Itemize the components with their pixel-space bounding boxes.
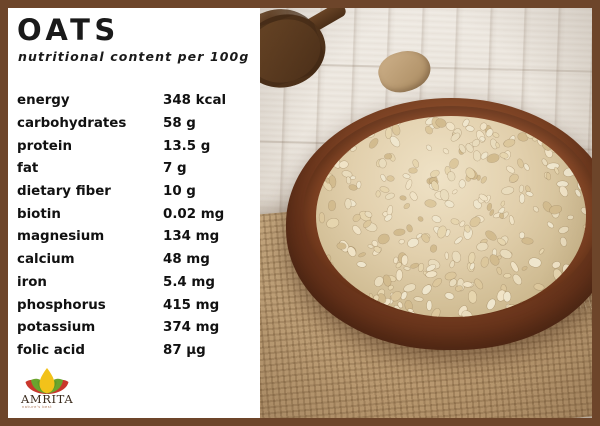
nutrient-label: potassium: [17, 317, 163, 340]
oat-flake: [480, 256, 489, 267]
oat-flake: [500, 201, 505, 207]
table-row: calcium 48 mg: [17, 249, 257, 272]
oat-flake: [508, 215, 514, 225]
nutrition-text-panel: OATS nutritional content per 100g energy…: [8, 8, 260, 418]
oat-flake: [403, 173, 411, 179]
oat-flake: [480, 176, 488, 184]
oat-flake: [387, 175, 394, 181]
brand-logo: AMRITA nature's best: [21, 366, 83, 411]
oat-flake: [417, 215, 424, 222]
oat-flake: [426, 301, 431, 311]
oat-flake: [497, 267, 502, 275]
oat-flake: [402, 255, 408, 265]
nutrient-label: biotin: [17, 203, 163, 226]
nutrient-value: 48 mg: [163, 249, 257, 272]
oat-flake: [571, 116, 577, 124]
oat-flake: [522, 266, 528, 271]
oat-flake: [533, 283, 544, 291]
oat-flake: [356, 262, 366, 268]
oat-flake: [547, 221, 555, 229]
oat-flake: [583, 225, 586, 228]
oat-flake: [580, 206, 586, 216]
oat-flake: [405, 179, 413, 190]
oat-flake: [409, 168, 418, 173]
oat-flake: [577, 267, 585, 279]
oat-flake: [409, 311, 415, 317]
oat-flake: [392, 123, 401, 135]
nutrient-value: 134 mg: [163, 226, 257, 249]
nutrient-label: protein: [17, 135, 163, 158]
oat-flake: [379, 158, 387, 168]
oat-flake: [459, 179, 465, 188]
nutrient-value: 13.5 g: [163, 135, 257, 158]
oat-flake: [393, 257, 398, 263]
nutrition-infographic: OATS nutritional content per 100g energy…: [0, 0, 600, 426]
oat-flake: [408, 191, 418, 202]
page-subtitle: nutritional content per 100g: [18, 49, 249, 64]
oat-flake: [486, 298, 497, 311]
oat-flake: [403, 203, 410, 210]
oat-flake: [380, 308, 392, 317]
oat-flake: [380, 174, 387, 182]
lotus-flower-icon: [24, 366, 70, 395]
oat-flake: [539, 249, 545, 255]
oat-flake: [520, 194, 525, 203]
oat-flake: [316, 279, 328, 288]
oat-flake: [326, 255, 331, 261]
oat-flake: [380, 186, 390, 193]
oat-flake: [519, 185, 524, 193]
oat-flake: [522, 237, 534, 244]
oat-flake: [336, 242, 345, 249]
table-row: folic acid 87 µg: [17, 340, 257, 363]
logo-tagline: nature's best: [22, 406, 52, 410]
oat-flake: [505, 165, 515, 174]
oat-flake: [404, 282, 417, 293]
oat-flake: [412, 159, 419, 168]
oat-flake: [404, 266, 411, 270]
table-row: energy 348 kcal: [17, 90, 257, 113]
table-row: fat 7 g: [17, 158, 257, 181]
oat-flake: [447, 171, 456, 181]
oat-flake: [319, 213, 325, 223]
oat-flake: [563, 166, 576, 176]
nutrient-label: iron: [17, 272, 163, 295]
nutrient-value: 87 µg: [163, 340, 257, 363]
table-row: iron 5.4 mg: [17, 272, 257, 295]
oat-flake: [386, 192, 396, 199]
nutrition-table: energy 348 kcal carbohydrates 58 g prote…: [17, 90, 257, 362]
oat-flake: [338, 307, 348, 317]
table-row: dietary fiber 10 g: [17, 181, 257, 204]
oat-flake: [451, 189, 457, 195]
oat-flake: [537, 308, 542, 314]
oat-flake: [567, 214, 574, 219]
oat-flake: [445, 292, 455, 300]
oat-flake: [424, 199, 436, 207]
nutrition-table-body: energy 348 kcal carbohydrates 58 g prote…: [17, 90, 257, 362]
oat-flake: [351, 224, 362, 235]
oat-flake: [559, 237, 567, 247]
oat-flake: [430, 245, 438, 254]
nutrient-value: 5.4 mg: [163, 272, 257, 295]
nutrient-label: phosphorus: [17, 294, 163, 317]
table-row: potassium 374 mg: [17, 317, 257, 340]
nutrient-value: 7 g: [163, 158, 257, 181]
oat-flake: [477, 242, 489, 252]
oat-flake: [504, 274, 511, 278]
nutrient-label: calcium: [17, 249, 163, 272]
oat-flake: [376, 191, 380, 197]
oat-flake: [451, 218, 460, 225]
oat-flake: [493, 132, 500, 138]
infographic-card: OATS nutritional content per 100g energy…: [8, 8, 592, 418]
oat-flake: [388, 285, 395, 291]
nutrient-label: folic acid: [17, 340, 163, 363]
table-row: biotin 0.02 mg: [17, 203, 257, 226]
oat-flake: [445, 252, 449, 259]
oats-photo: [260, 8, 592, 418]
nutrient-value: 10 g: [163, 181, 257, 204]
oat-flake: [347, 246, 358, 258]
nutrient-value: 0.02 mg: [163, 203, 257, 226]
oat-flake: [394, 228, 406, 236]
oat-flake: [430, 180, 440, 192]
oat-flake: [326, 218, 340, 230]
oat-flake: [550, 205, 563, 215]
oat-flake: [367, 137, 379, 150]
table-row: phosphorus 415 mg: [17, 294, 257, 317]
oat-flake: [430, 307, 441, 317]
oat-flake: [468, 252, 476, 264]
nutrient-label: dietary fiber: [17, 181, 163, 204]
oat-flake: [580, 279, 586, 283]
oat-flake: [523, 163, 530, 171]
oat-flake: [445, 199, 455, 207]
oat-flake: [503, 291, 511, 301]
oat-flake: [512, 273, 523, 286]
oat-flake: [358, 252, 365, 257]
oat-flake: [468, 216, 481, 229]
oat-flake: [318, 308, 323, 316]
oat-flake: [431, 277, 443, 288]
nutrient-label: fat: [17, 158, 163, 181]
oat-flake: [399, 239, 405, 244]
oat-flake: [345, 199, 351, 209]
oat-flake: [472, 150, 481, 161]
oat-flake: [359, 315, 370, 318]
nutrient-value: 58 g: [163, 113, 257, 136]
oat-flake: [345, 177, 350, 184]
photo-scene: [260, 8, 592, 418]
nutrient-value: 348 kcal: [163, 90, 257, 113]
oat-flake: [519, 300, 531, 309]
oat-flake: [526, 191, 534, 197]
oat-flake: [503, 138, 515, 148]
rolled-oats: [316, 116, 587, 318]
oat-flake: [461, 309, 473, 317]
oat-flake: [351, 145, 358, 151]
oat-flake: [574, 189, 581, 198]
oat-flake: [399, 196, 406, 201]
oat-flake: [558, 184, 570, 197]
oat-flake: [406, 224, 413, 233]
table-row: magnesium 134 mg: [17, 226, 257, 249]
logo-wordmark: AMRITA: [21, 394, 73, 406]
oat-flake: [442, 148, 449, 155]
page-title: OATS: [17, 16, 120, 45]
oat-flake: [546, 173, 551, 180]
oat-flake: [426, 270, 438, 278]
wooden-bowl: [286, 98, 592, 350]
oat-flake: [516, 158, 524, 168]
oat-flake: [533, 206, 540, 213]
oat-flake: [509, 261, 519, 273]
oat-flake: [426, 144, 433, 151]
oat-flake: [473, 277, 484, 290]
nutrient-value: 415 mg: [163, 294, 257, 317]
oat-flake: [466, 126, 474, 132]
table-row: carbohydrates 58 g: [17, 113, 257, 136]
oat-flake: [339, 160, 349, 169]
oat-flake: [414, 297, 423, 302]
nutrient-label: carbohydrates: [17, 113, 163, 136]
oat-flake: [556, 128, 564, 136]
oat-flake: [431, 215, 442, 224]
oat-flake: [559, 226, 570, 235]
table-row: protein 13.5 g: [17, 135, 257, 158]
nutrient-value: 374 mg: [163, 317, 257, 340]
oat-flake: [396, 270, 403, 281]
oat-flake: [328, 200, 336, 210]
oat-flake: [501, 186, 514, 195]
oat-flake: [377, 233, 391, 245]
oat-flake: [554, 166, 560, 174]
oat-flake: [407, 238, 420, 249]
oat-flake: [529, 257, 542, 267]
oat-flake: [454, 235, 464, 244]
oat-flake: [468, 291, 477, 303]
nutrient-label: magnesium: [17, 226, 163, 249]
oat-flake: [552, 261, 562, 269]
oat-flake: [439, 188, 450, 201]
nutrient-label: energy: [17, 90, 163, 113]
oat-flake: [362, 302, 369, 310]
